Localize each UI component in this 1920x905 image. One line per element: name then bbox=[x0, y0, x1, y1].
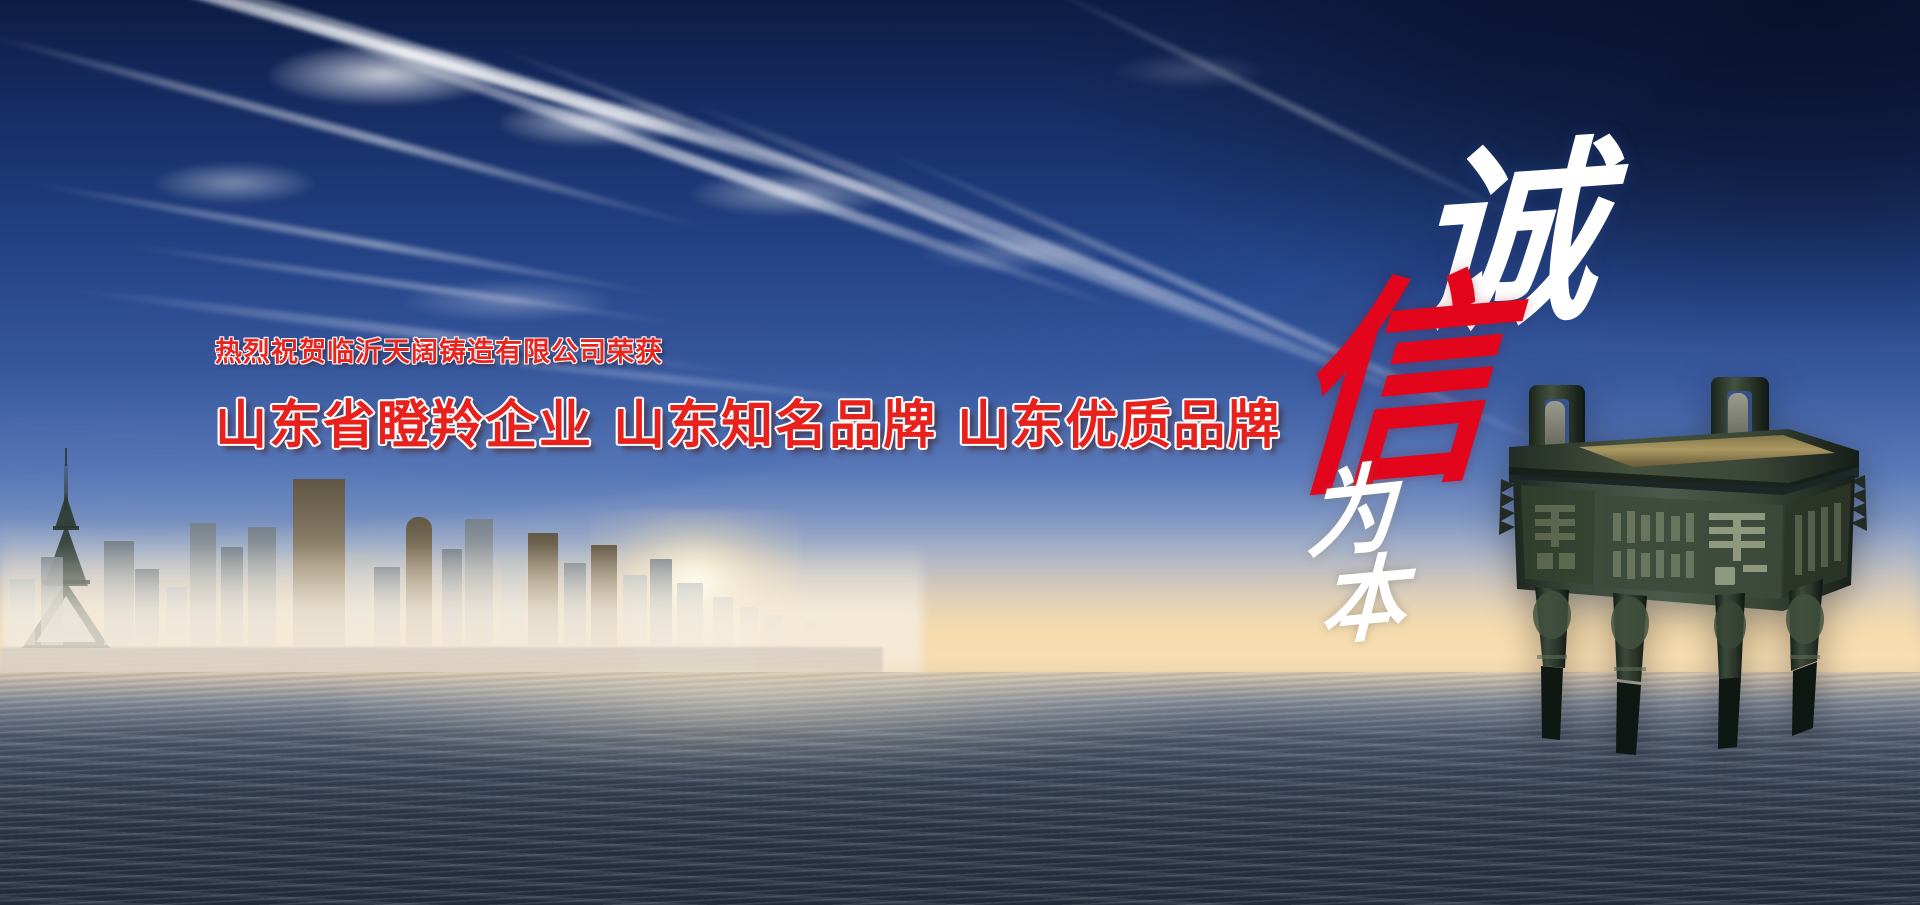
congratulation-line: 热烈祝贺临沂天阔铸造有限公司荣获 bbox=[215, 330, 1281, 369]
ocean-sun-sheen bbox=[346, 674, 1344, 783]
promotional-banner: 热烈祝贺临沂天阔铸造有限公司荣获 山东省瞪羚企业 山东知名品牌 山东优质品牌 诚… bbox=[0, 0, 1920, 905]
award-titles-line: 山东省瞪羚企业 山东知名品牌 山东优质品牌 bbox=[215, 383, 1281, 458]
headline-block: 热烈祝贺临沂天阔铸造有限公司荣获 山东省瞪羚企业 山东知名品牌 山东优质品牌 bbox=[215, 330, 1281, 458]
bronze-ding-icon bbox=[1483, 355, 1883, 755]
calligraphy-ben: 本 bbox=[1319, 551, 1407, 651]
